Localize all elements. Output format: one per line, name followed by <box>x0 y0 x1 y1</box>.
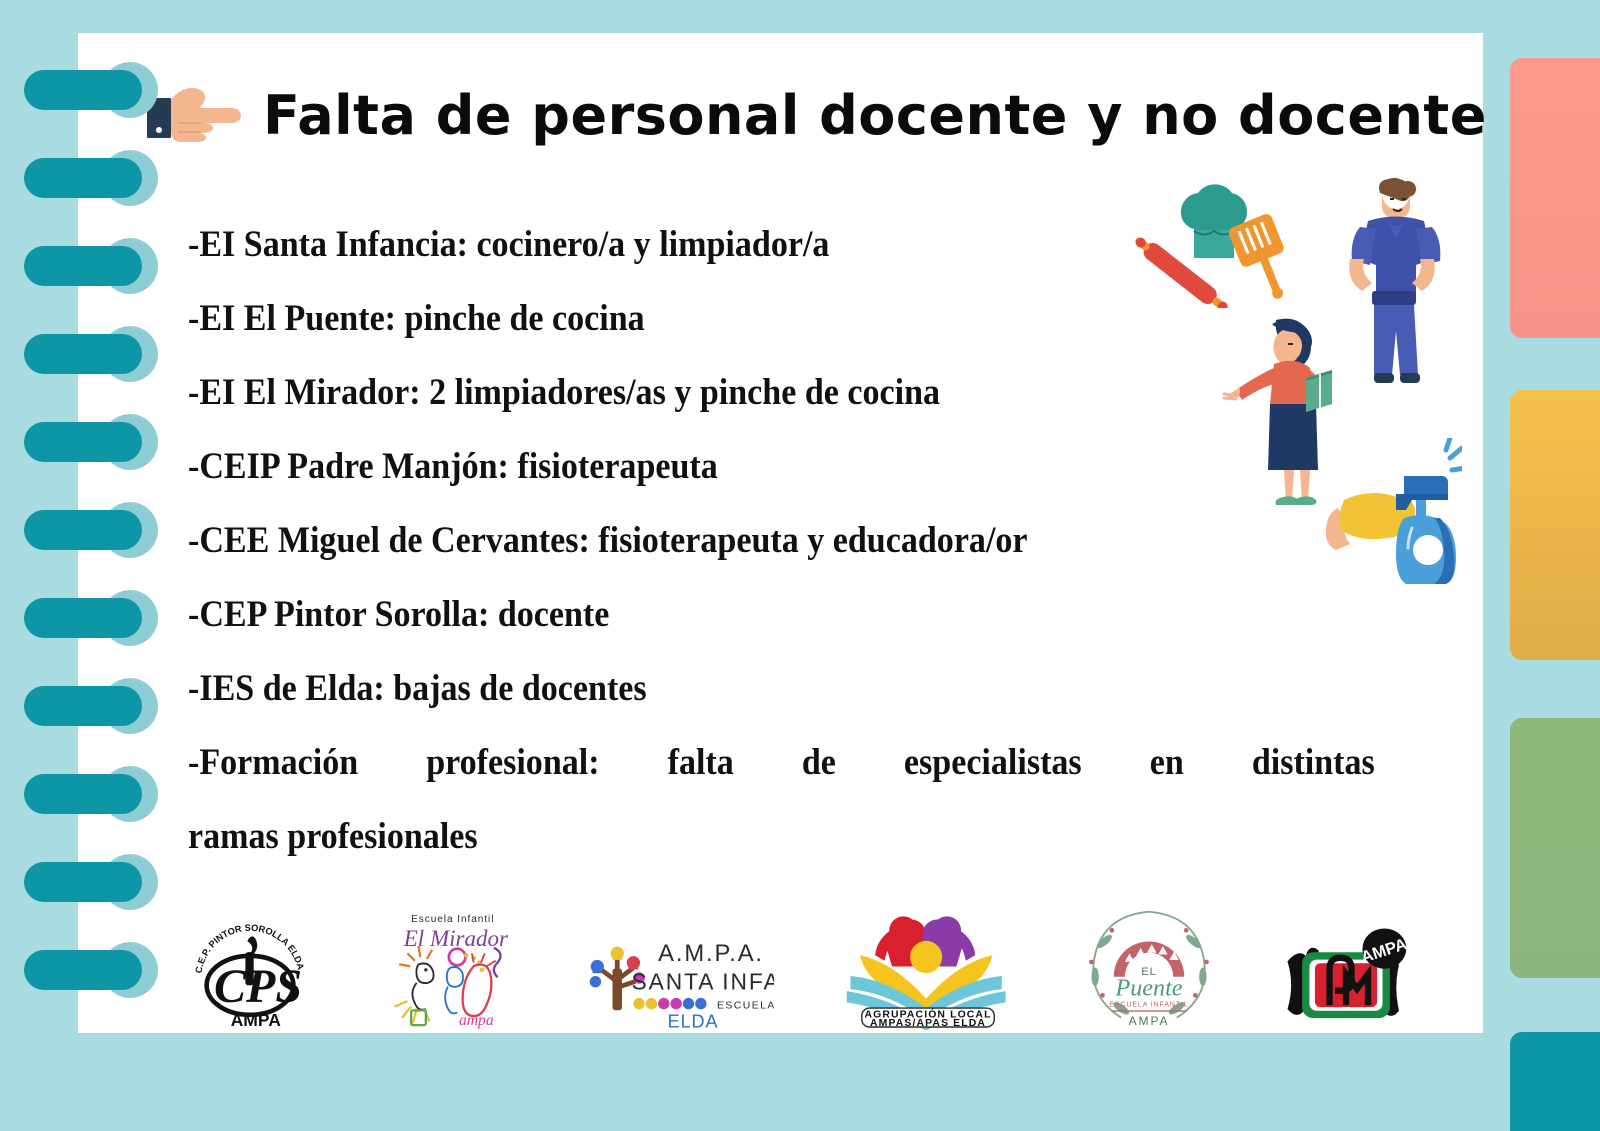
worker-blue-scrubs-illustration <box>1320 165 1455 395</box>
spiral-binding <box>0 0 180 1131</box>
logo-cep-pintor-sorolla-ampa: C.E.P. PINTOR SOROLLA ELDA CPS AMPA <box>190 912 310 1030</box>
svg-text:ESCUELA INFANTIL: ESCUELA INFANTIL <box>717 1000 774 1011</box>
spiral-ring-bar <box>24 686 142 726</box>
spiral-ring <box>24 598 144 638</box>
svg-text:AMPAS/APAS ELDA: AMPAS/APAS ELDA <box>870 1018 986 1029</box>
spiral-ring-bar <box>24 422 142 462</box>
content-line: -CEP Pintor Sorolla: docente <box>188 578 1287 652</box>
spiral-ring-bar <box>24 70 142 110</box>
spiral-ring-bar <box>24 862 142 902</box>
svg-text:AMPA: AMPA <box>1129 1014 1170 1028</box>
spiral-ring-bar <box>24 158 142 198</box>
svg-text:A.M.P.A.: A.M.P.A. <box>658 940 764 967</box>
spiral-ring-bar <box>24 510 142 550</box>
content-line: -CEE Miguel de Cervantes: fisioterapeuta… <box>188 504 1287 578</box>
svg-text:AMPA: AMPA <box>231 1010 282 1030</box>
content-line: -Formación profesional: falta de especia… <box>188 726 1375 800</box>
spiral-ring <box>24 862 144 902</box>
content-line: -IES de Elda: bajas de docentes <box>188 652 1287 726</box>
svg-text:SANTA INFANCIA: SANTA INFANCIA <box>631 968 774 994</box>
spiral-ring-bar <box>24 950 142 990</box>
logo-agrupacion-local-ampas-apas-elda: AGRUPACIÓN LOCAL AMPAS/APAS ELDA <box>841 902 1016 1030</box>
tab-teal <box>1510 1032 1600 1131</box>
logos-row: C.E.P. PINTOR SOROLLA ELDA CPS AMPA Escu… <box>190 890 1410 1030</box>
svg-text:ELDA: ELDA <box>667 1011 718 1030</box>
side-tabs <box>1470 0 1600 1131</box>
content-line: -CEIP Padre Manjón: fisioterapeuta <box>188 430 1287 504</box>
svg-text:ESCUELA INFANTIL: ESCUELA INFANTIL <box>1109 1001 1188 1008</box>
gloved-hand-spray-bottle-illustration <box>1292 438 1462 588</box>
svg-text:CEIP: CEIP <box>1388 996 1397 1016</box>
spiral-ring <box>24 70 144 110</box>
poster-header: Falta de personal docente y no docente <box>145 80 1487 150</box>
tab-amber <box>1510 390 1600 660</box>
spiral-ring <box>24 158 144 198</box>
spiral-ring-bar <box>24 334 142 374</box>
spiral-ring <box>24 510 144 550</box>
tab-coral <box>1510 58 1600 338</box>
page-title: Falta de personal docente y no docente <box>263 84 1487 147</box>
content-line: ramas profesionales <box>188 800 1287 874</box>
spiral-ring-bar <box>24 774 142 814</box>
svg-text:CPS: CPS <box>214 960 302 1013</box>
spiral-ring <box>24 246 144 286</box>
svg-text:Puente: Puente <box>1115 974 1183 1001</box>
spiral-ring <box>24 422 144 462</box>
tab-green <box>1510 718 1600 978</box>
spiral-ring <box>24 950 144 990</box>
spiral-ring-bar <box>24 598 142 638</box>
spiral-ring <box>24 334 144 374</box>
svg-text:Escuela Infantil: Escuela Infantil <box>411 914 494 925</box>
content-line: -EI El Mirador: 2 limpiadores/as y pinch… <box>188 356 1287 430</box>
logo-ei-el-puente-ampa: EL Puente ESCUELA INFANTIL AMPA <box>1084 904 1214 1030</box>
logo-ampa-santa-infancia: A.M.P.A. SANTA INFANCIA ESCUELA INFANTIL… <box>584 924 774 1030</box>
chef-hat-utensils-illustration <box>1118 168 1308 308</box>
spiral-ring <box>24 774 144 814</box>
logo-ceip-padre-manjon-ampa: AMPA CEIP <box>1282 912 1410 1030</box>
svg-text:ampa: ampa <box>459 1012 494 1029</box>
logo-ei-el-mirador: Escuela Infantil El Mirador <box>378 908 516 1030</box>
spiral-ring-bar <box>24 246 142 286</box>
spiral-ring <box>24 686 144 726</box>
